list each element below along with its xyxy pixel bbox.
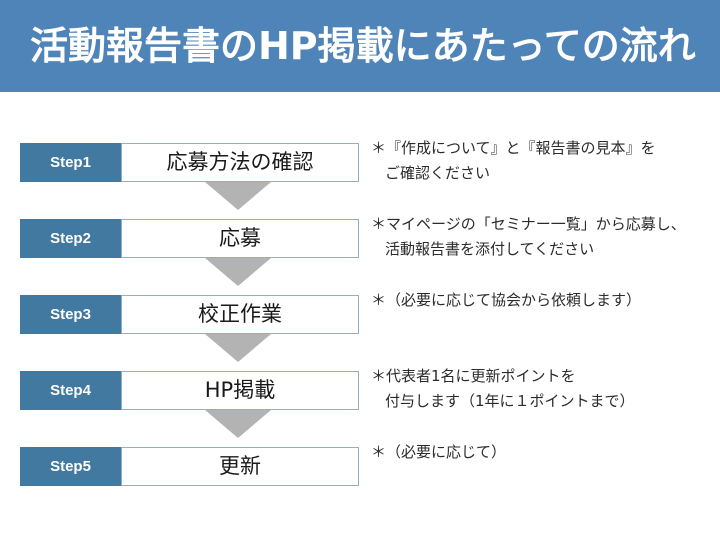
step-note-3: ＊（必要に応じて協会から依頼します） [371, 288, 719, 313]
flow-step-row: Step1 応募方法の確認 ＊『作成について』と『報告書の見本』を ご確認くださ… [0, 143, 720, 182]
step-note-line: ＊（必要に応じて協会から依頼します） [371, 288, 719, 313]
flow-step-row: Step4 HP掲載 ＊代表者1名に更新ポイントを 付与します（1年に１ポイント… [0, 371, 720, 410]
step-note-line: 活動報告書を添付してください [371, 237, 719, 262]
process-flow-diagram: Step1 応募方法の確認 ＊『作成について』と『報告書の見本』を ご確認くださ… [0, 92, 720, 540]
step-note-5: ＊（必要に応じて） [371, 440, 719, 465]
flow-arrow-down-icon [205, 410, 271, 438]
flow-step-row: Step2 応募 ＊マイページの「セミナー一覧」から応募し、 活動報告書を添付し… [0, 219, 720, 258]
step-note-line: ＊代表者1名に更新ポイントを [371, 364, 719, 389]
step-title-box-3: 校正作業 [121, 295, 359, 334]
flow-arrow-down-icon [205, 182, 271, 210]
step-chip-1: Step1 [20, 143, 121, 182]
step-note-4: ＊代表者1名に更新ポイントを 付与します（1年に１ポイントまで） [371, 364, 719, 414]
step-note-2: ＊マイページの「セミナー一覧」から応募し、 活動報告書を添付してください [371, 212, 719, 262]
step-title-box-1: 応募方法の確認 [121, 143, 359, 182]
step-note-line: ＊『作成について』と『報告書の見本』を [371, 136, 719, 161]
step-title-box-2: 応募 [121, 219, 359, 258]
step-note-1: ＊『作成について』と『報告書の見本』を ご確認ください [371, 136, 719, 186]
flow-arrow-down-icon [205, 258, 271, 286]
step-title-box-5: 更新 [121, 447, 359, 486]
flow-arrow-down-icon [205, 334, 271, 362]
flow-step-row: Step3 校正作業 ＊（必要に応じて協会から依頼します） [0, 295, 720, 334]
step-note-line: ご確認ください [371, 161, 719, 186]
step-note-line: 付与します（1年に１ポイントまで） [371, 389, 719, 414]
step-note-line: ＊（必要に応じて） [371, 440, 719, 465]
step-note-line: ＊マイページの「セミナー一覧」から応募し、 [371, 212, 719, 237]
step-chip-3: Step3 [20, 295, 121, 334]
step-chip-4: Step4 [20, 371, 121, 410]
header-banner: 活動報告書のHP掲載にあたっての流れ [0, 0, 720, 92]
page-title: 活動報告書のHP掲載にあたっての流れ [30, 15, 700, 77]
step-title-box-4: HP掲載 [121, 371, 359, 410]
step-chip-2: Step2 [20, 219, 121, 258]
step-chip-5: Step5 [20, 447, 121, 486]
flow-step-row: Step5 更新 ＊（必要に応じて） [0, 447, 720, 486]
